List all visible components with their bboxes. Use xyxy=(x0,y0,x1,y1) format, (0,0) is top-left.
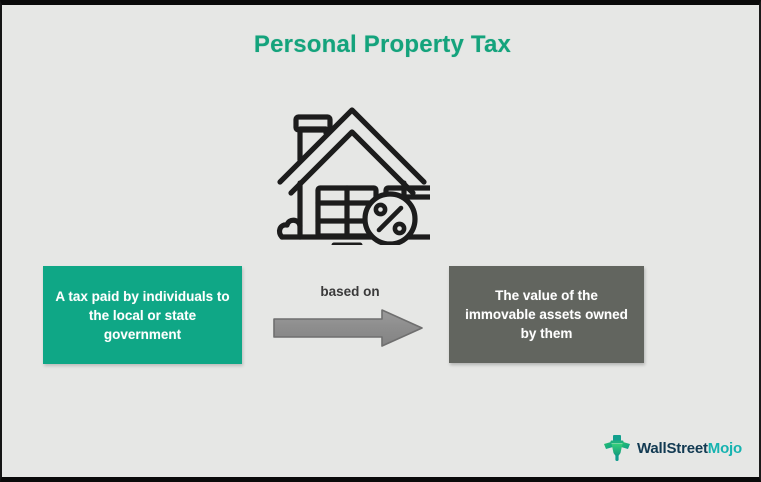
left-statement-text: A tax paid by individuals to the local o… xyxy=(43,287,242,344)
slide-canvas: Personal Property Tax xyxy=(0,0,761,482)
right-arrow-icon xyxy=(272,308,424,348)
wallstreetmojo-bull-icon xyxy=(602,433,632,463)
brand-name: WallStreetMojo xyxy=(637,440,742,457)
brand-name-part2: Mojo xyxy=(708,440,742,457)
house-with-percent-icon xyxy=(274,93,430,245)
left-statement-box: A tax paid by individuals to the local o… xyxy=(43,266,242,364)
connector-label: based on xyxy=(270,284,430,299)
brand-logo: WallStreetMojo xyxy=(602,433,742,463)
page-title: Personal Property Tax xyxy=(2,31,761,59)
right-statement-text: The value of the immovable assets owned … xyxy=(449,286,644,343)
right-statement-box: The value of the immovable assets owned … xyxy=(449,266,644,363)
brand-name-part1: WallStreet xyxy=(637,440,708,457)
